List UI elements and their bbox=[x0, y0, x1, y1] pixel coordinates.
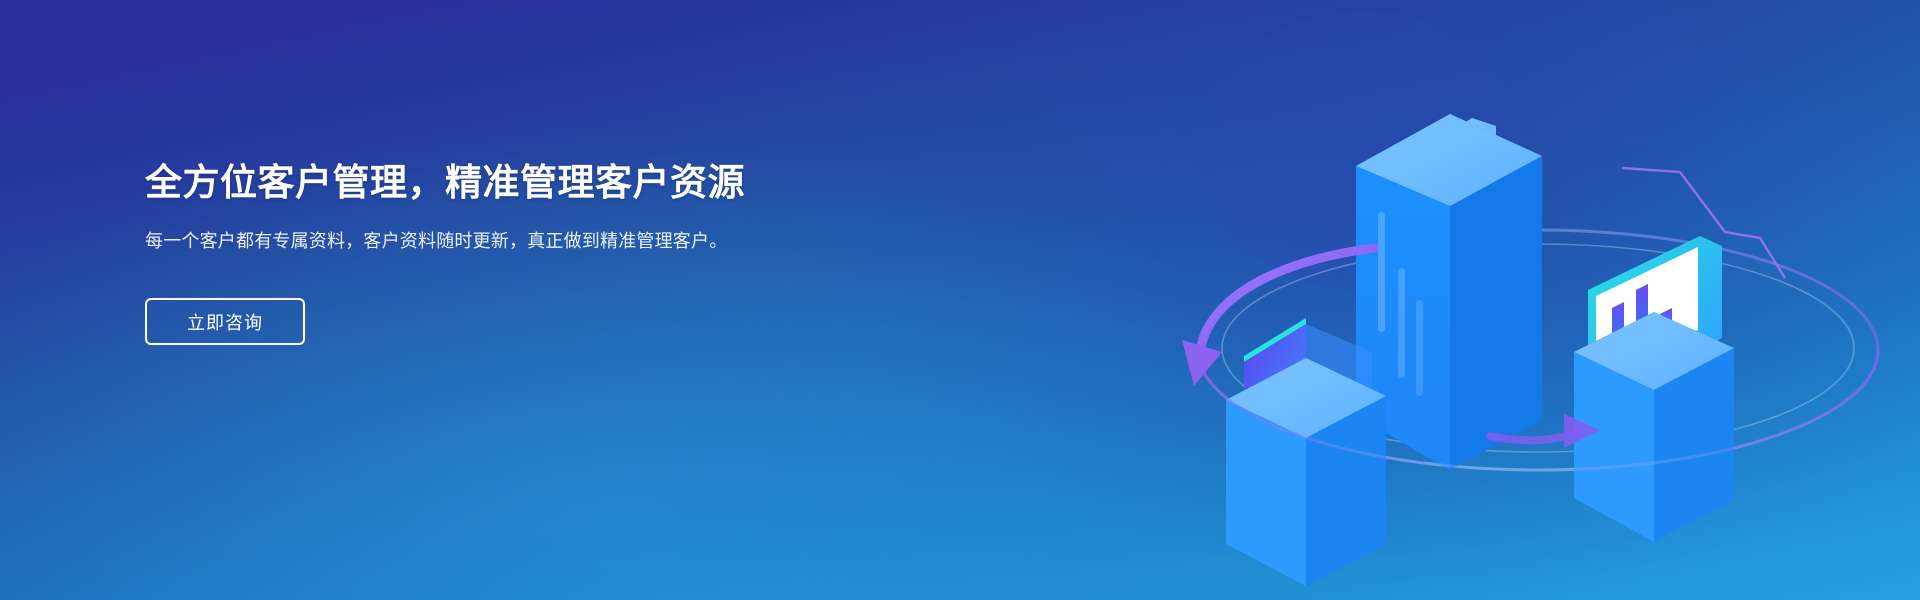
cta-container: 立即咨询 bbox=[145, 298, 805, 345]
page-title: 全方位客户管理，精准管理客户资源 bbox=[145, 160, 805, 206]
hero-copy-block: 全方位客户管理，精准管理客户资源 每一个客户都有专属资料，客户资料随时更新，真正… bbox=[145, 160, 805, 345]
hero-illustration bbox=[1160, 0, 1920, 600]
right-pillar bbox=[1574, 236, 1734, 542]
hero-banner: 全方位客户管理，精准管理客户资源 每一个客户都有专属资料，客户资料随时更新，真正… bbox=[0, 0, 1920, 600]
hero-subtitle: 每一个客户都有专属资料，客户资料随时更新，真正做到精准管理客户。 bbox=[145, 228, 745, 256]
consult-now-button[interactable]: 立即咨询 bbox=[145, 298, 305, 345]
